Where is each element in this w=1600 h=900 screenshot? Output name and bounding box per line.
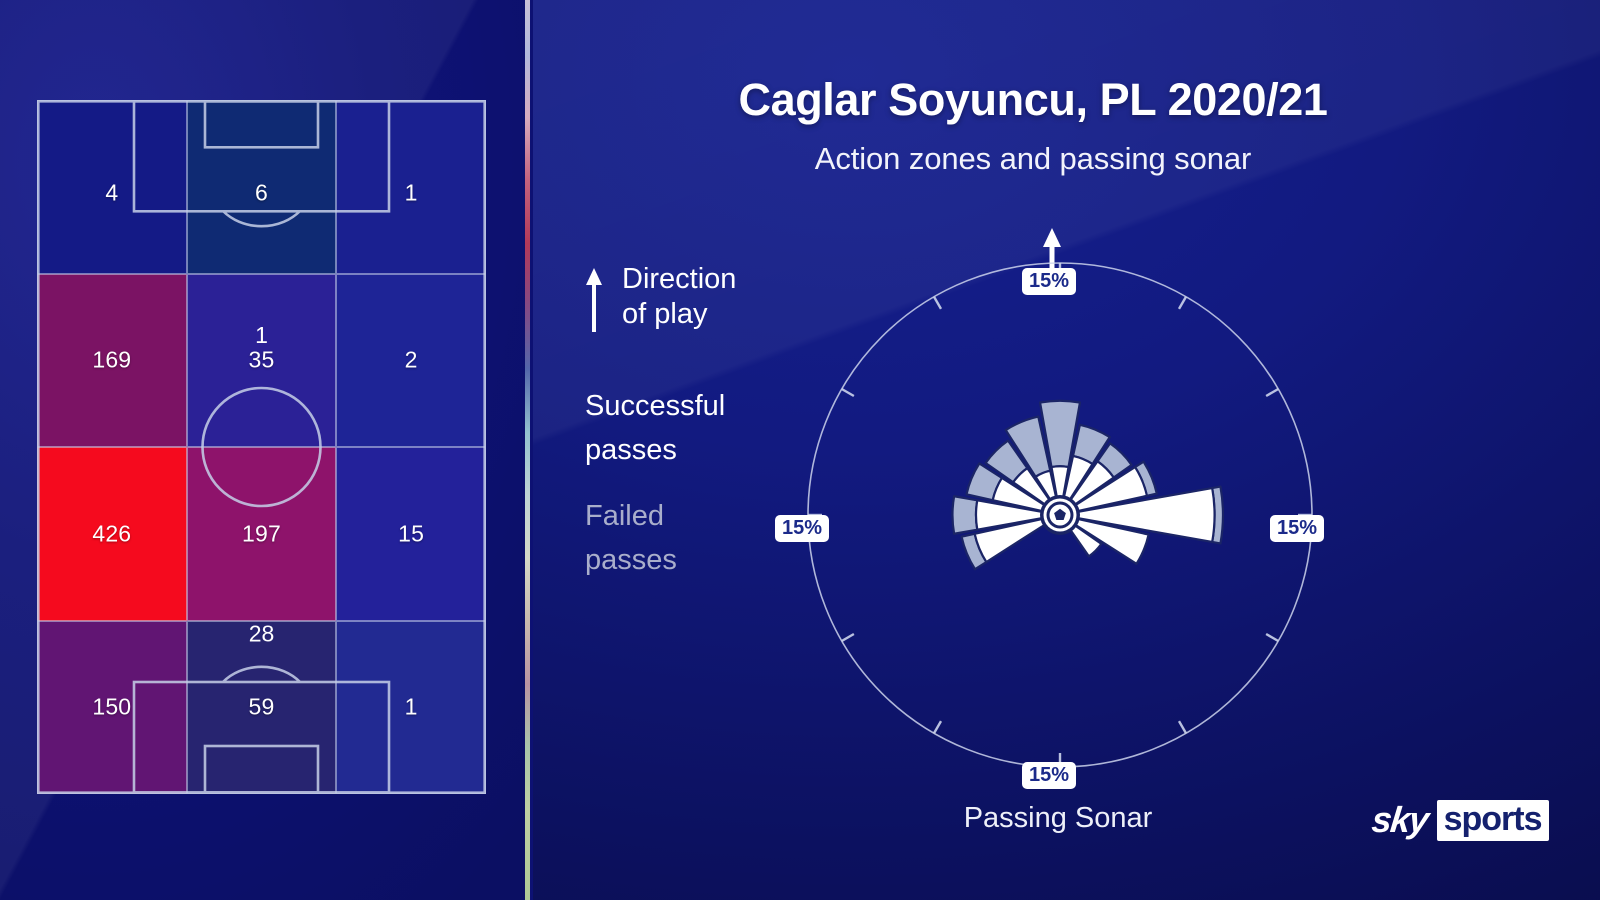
action-zones-pitch: 46116935242619715150591 128	[37, 100, 486, 794]
zone-cell-r2-c0: 426	[37, 447, 187, 621]
sonar-axis-label-left: 15%	[775, 515, 829, 542]
zone-value: 2	[336, 347, 486, 374]
zone-cell-r1-c2: 2	[336, 274, 486, 448]
sky-sports-logo: sky sports	[1372, 800, 1549, 840]
zone-value: 169	[37, 347, 187, 374]
successful-passes-line1: Successful	[585, 384, 815, 428]
zone-cell-r3-c0: 150	[37, 621, 187, 795]
sonar-axis-tick	[934, 721, 941, 733]
zone-value: 426	[37, 520, 187, 547]
page-title: Caglar Soyuncu, PL 2020/21	[533, 74, 1533, 126]
zone-value: 1	[336, 694, 486, 721]
zone-value: 15	[336, 520, 486, 547]
sonar-axis-tick	[1266, 389, 1278, 396]
zone-value: 6	[187, 179, 337, 206]
failed-passes-line2: passes	[585, 538, 815, 582]
sonar-axis-tick	[842, 389, 854, 396]
sports-wordmark: sports	[1437, 800, 1549, 841]
zone-value: 4	[37, 179, 187, 206]
sonar-axis-tick	[934, 297, 941, 309]
action-zones-grid: 46116935242619715150591	[37, 100, 486, 794]
direction-arrow-icon	[585, 268, 603, 332]
direction-of-play-line1: Direction	[622, 262, 815, 297]
zone-cell-r3-c1: 59	[187, 621, 337, 795]
zone-cell-r0-c0: 4	[37, 100, 187, 274]
sonar-petal-failed	[952, 496, 977, 534]
successful-passes-legend: Successful passes	[585, 384, 815, 472]
sonar-axis-tick	[1266, 634, 1278, 641]
sonar-axis-tick	[842, 634, 854, 641]
sonar-axis-label-top: 15%	[1022, 268, 1076, 295]
direction-of-play-legend: Direction of play	[585, 262, 815, 332]
successful-passes-line2: passes	[585, 428, 815, 472]
zone-value: 1	[336, 179, 486, 206]
zone-value: 197	[187, 520, 337, 547]
zone-value: 150	[37, 694, 187, 721]
zone-cell-r1-c0: 169	[37, 274, 187, 448]
sonar-caption: Passing Sonar	[838, 802, 1278, 835]
passing-sonar-chart	[795, 250, 1325, 780]
sonar-axis-tick	[1179, 297, 1186, 309]
panel-divider	[525, 0, 530, 900]
zone-value: 35	[187, 347, 337, 374]
football-icon	[1040, 495, 1080, 535]
sonar-axis-label-bottom: 15%	[1022, 762, 1076, 789]
page-subtitle: Action zones and passing sonar	[533, 141, 1533, 177]
zone-cell-r1-c1: 35	[187, 274, 337, 448]
zone-cell-r2-c1: 197	[187, 447, 337, 621]
zone-cell-r0-c1: 6	[187, 100, 337, 274]
zone-cell-r0-c2: 1	[336, 100, 486, 274]
sonar-axis-tick	[1179, 721, 1186, 733]
direction-of-play-line2: of play	[622, 297, 815, 332]
zone-cell-r3-c2: 1	[336, 621, 486, 795]
sky-wordmark: sky	[1370, 799, 1430, 841]
sonar-axis-label-right: 15%	[1270, 515, 1324, 542]
zone-value: 59	[187, 694, 337, 721]
zone-cell-r2-c2: 15	[336, 447, 486, 621]
